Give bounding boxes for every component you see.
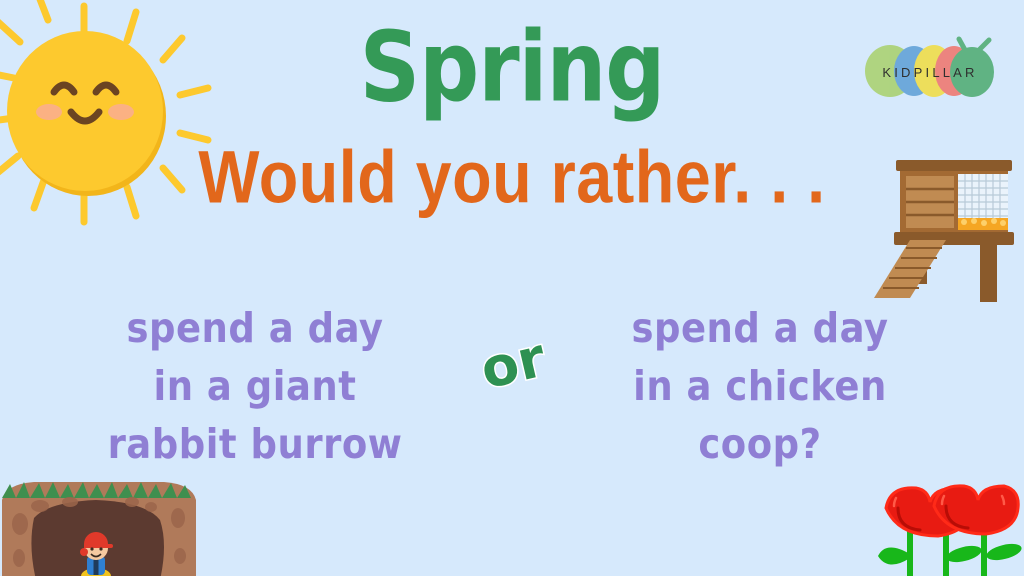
rabbit-burrow-illustration <box>0 472 210 576</box>
coop-leg-right <box>980 244 997 302</box>
or-divider-label: or <box>452 319 574 408</box>
or-divider: or <box>458 331 568 403</box>
flower-blooms <box>886 486 1018 536</box>
chicken-coop-illustration <box>858 146 1024 306</box>
flower-leaves <box>878 541 1023 565</box>
red-flowers-illustration <box>872 472 1024 576</box>
answer-left-line-1: spend a day <box>55 297 455 361</box>
coop-ramp <box>874 240 946 298</box>
slide-canvas: KIDPILLAR Spring Would you rather. . . s… <box>0 0 1024 576</box>
answer-option-left[interactable]: spend a day in a giant rabbit burrow <box>55 300 455 474</box>
answer-right-line-1: spend a day <box>560 297 960 361</box>
coop-top-beam <box>896 160 1012 171</box>
answer-right-line-3: coop? <box>560 413 960 477</box>
answer-option-right[interactable]: spend a day in a chicken coop? <box>560 300 960 474</box>
answer-right-line-2: in a chicken <box>560 355 960 419</box>
answer-left-line-3: rabbit burrow <box>55 413 455 477</box>
page-title: Spring <box>0 18 1024 115</box>
child-ear-left <box>80 548 88 556</box>
answer-left-line-2: in a giant <box>55 355 455 419</box>
